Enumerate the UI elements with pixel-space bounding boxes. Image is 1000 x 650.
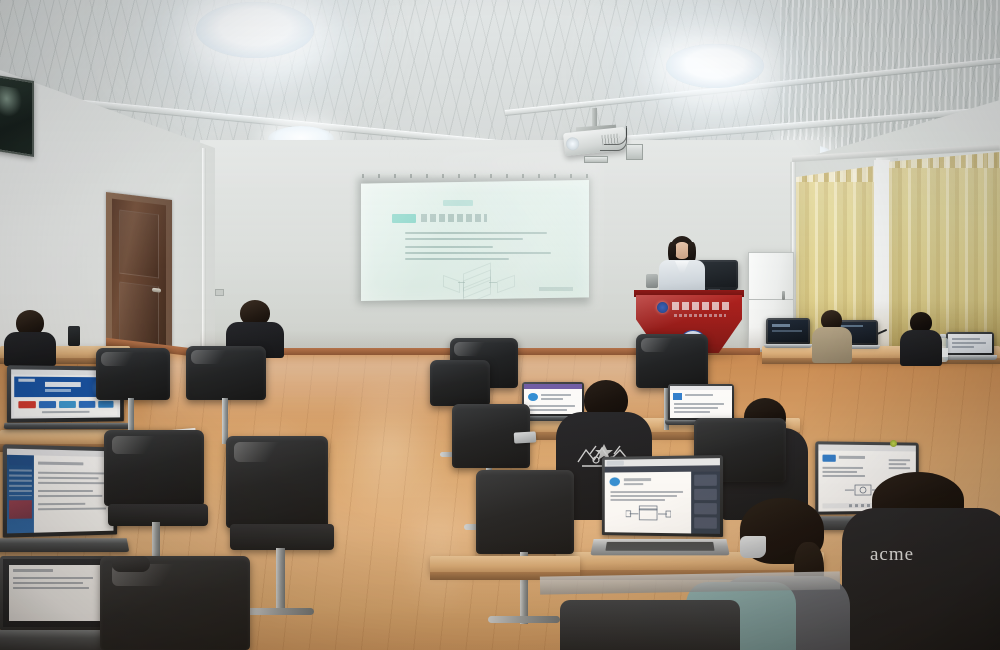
foreground-chair-right xyxy=(560,600,740,650)
chair-left-2[interactable] xyxy=(186,346,266,400)
cabinet-handle[interactable] xyxy=(782,291,785,300)
banner-button-3[interactable] xyxy=(59,401,76,408)
wall-seam-left xyxy=(202,148,206,358)
ceiling-light-front-right xyxy=(666,44,764,88)
projector-cable-2 xyxy=(604,126,627,145)
classroom-door[interactable] xyxy=(112,199,166,362)
banner-button-2[interactable] xyxy=(39,401,56,408)
chair-aisle-3[interactable] xyxy=(476,470,574,554)
projector-junction-box xyxy=(626,144,643,160)
ceiling-light-front-left xyxy=(196,2,314,58)
smartphone[interactable] xyxy=(514,431,537,443)
banner-button-1[interactable] xyxy=(18,401,35,408)
desk-speaker xyxy=(68,326,80,346)
projector-lens xyxy=(565,137,579,151)
laptop-left-back[interactable] xyxy=(0,556,116,650)
chair-aisle-1[interactable] xyxy=(430,360,490,406)
wall-mounted-display[interactable] xyxy=(0,75,34,157)
projection-screen[interactable] xyxy=(361,180,589,301)
student-right-rear-body xyxy=(900,330,942,366)
projector-assembly xyxy=(548,108,658,170)
laptop-right-corner[interactable] xyxy=(946,332,994,360)
door-panel-upper xyxy=(119,210,159,279)
laptop-center-front-base[interactable] xyxy=(590,539,729,555)
screen-glare xyxy=(361,180,589,301)
student-right-window-body xyxy=(812,327,852,363)
lecture-hall-photo: acme xyxy=(0,0,1000,650)
lectern-english-glyphs xyxy=(674,314,726,317)
banner-button-4[interactable] xyxy=(79,401,96,408)
student-left-rear xyxy=(4,310,56,360)
screen-mount-rail xyxy=(362,174,588,178)
student-acme-hoodie: acme xyxy=(842,486,1000,650)
chair-headrest-knob xyxy=(112,556,150,572)
chair-left-4[interactable] xyxy=(226,436,328,528)
banner-button-5[interactable] xyxy=(98,401,113,408)
projector-plate xyxy=(584,156,608,163)
floor-light-reflection-3 xyxy=(398,462,478,622)
wall-switch[interactable] xyxy=(215,289,224,296)
student-right-rear xyxy=(900,312,942,362)
hoodie-logo-text: acme xyxy=(870,544,980,568)
student-left-rear-body xyxy=(4,332,56,366)
laptop-center-front[interactable] xyxy=(592,456,728,560)
chair-left-4-leg xyxy=(276,548,285,614)
student-right-window xyxy=(812,310,852,360)
chair-left-4-foot xyxy=(246,608,314,615)
cabinet-seam xyxy=(749,299,793,300)
display-glint xyxy=(0,86,22,119)
lectern-chinese-glyphs xyxy=(672,302,730,310)
student-acme-hoodie-body xyxy=(842,508,1000,650)
chair-left-1[interactable] xyxy=(96,348,170,400)
chair-left-4-seat[interactable] xyxy=(230,524,334,550)
laptop-screen-diagram xyxy=(626,504,671,526)
lectern-crest-icon xyxy=(657,302,668,313)
chair-aisle-3-foot xyxy=(488,616,560,623)
student-ponytail-mask xyxy=(740,536,766,558)
laptop-right-front-webcam-dot xyxy=(890,440,897,447)
chair-left-3[interactable] xyxy=(104,430,204,506)
laptop-right-back[interactable] xyxy=(766,318,810,348)
